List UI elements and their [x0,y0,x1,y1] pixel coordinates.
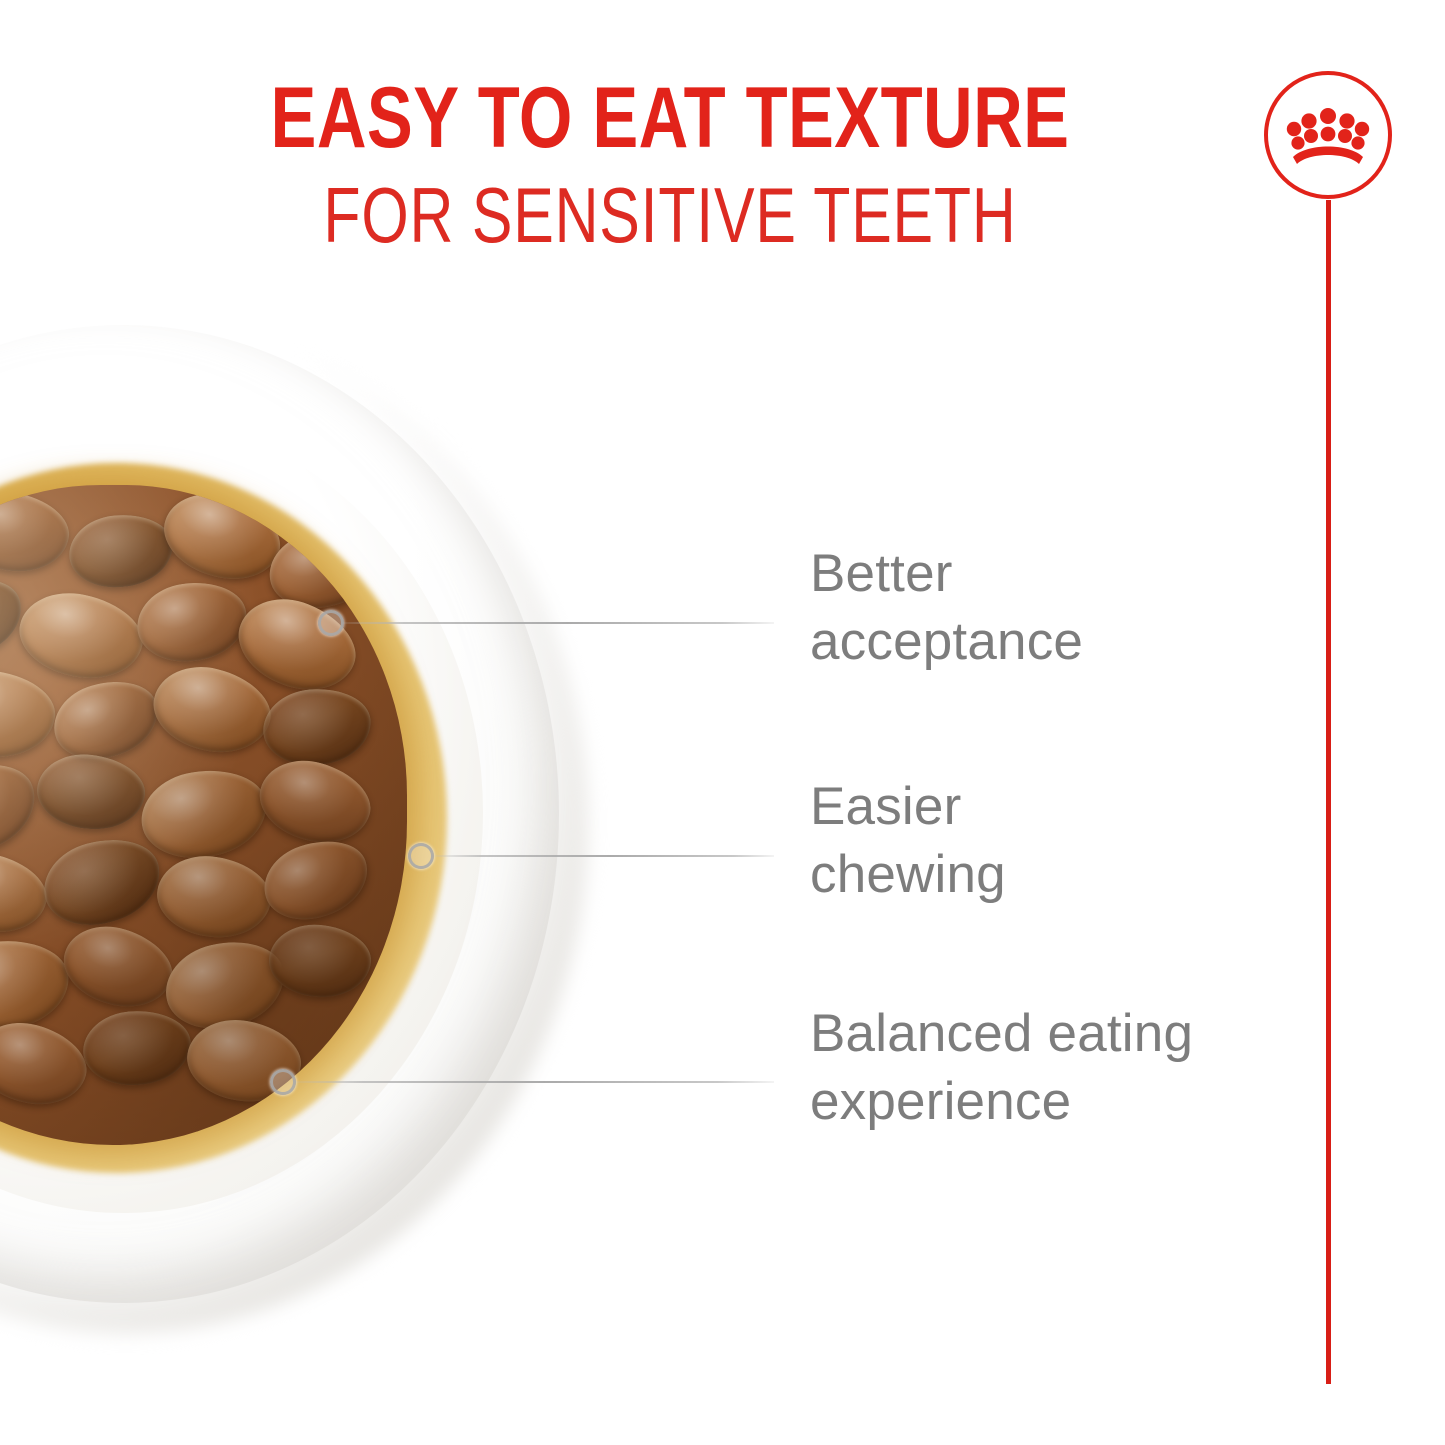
callout-ring-1 [318,610,344,636]
brand-vertical-rule [1326,200,1331,1384]
callout-line-3 [296,1081,774,1083]
product-photo [0,295,600,1350]
brand-logo [1264,71,1392,199]
callout-label-3: Balanced eating experience [810,1000,1310,1136]
callout-ring-2 [408,843,434,869]
royal-canin-crown-icon [1285,105,1371,165]
callout-line-1 [344,622,774,624]
page-title: EASY TO EAT TEXTURE FOR SENSITIVE TEETH [120,78,1220,254]
callout-line-2 [434,855,774,857]
headline-primary: EASY TO EAT TEXTURE [230,78,1110,160]
callout-label-2: Easier chewing [810,773,1280,909]
headline-secondary: FOR SENSITIVE TEETH [241,176,1099,254]
callout-ring-3 [270,1069,296,1095]
callout-label-1: Better acceptance [810,540,1280,676]
promo-canvas: EASY TO EAT TEXTURE FOR SENSITIVE TEETH [0,0,1445,1445]
